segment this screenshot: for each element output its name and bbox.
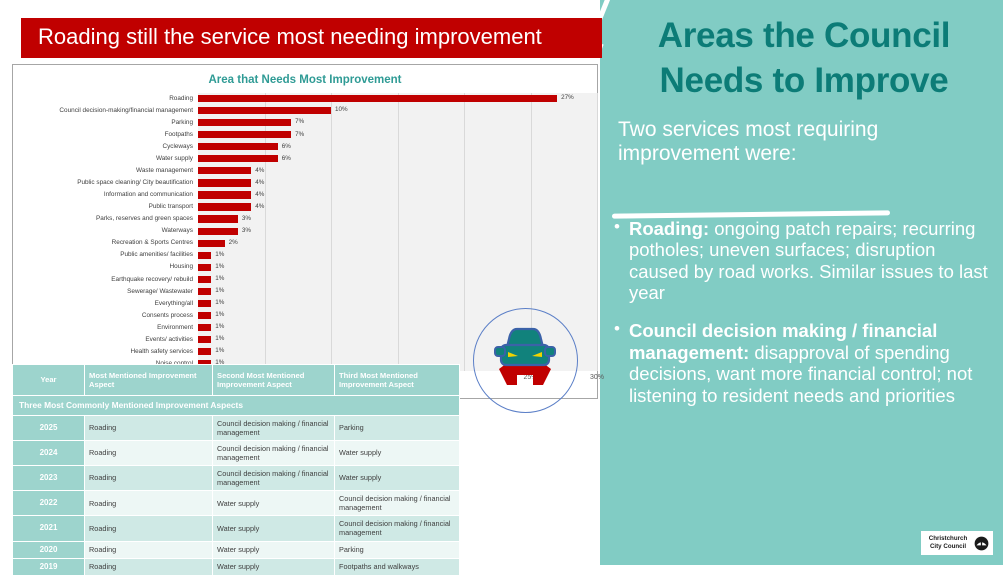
chart-value-label: 1%	[215, 348, 224, 354]
car-icon	[487, 323, 563, 397]
chart-bar-row: Everything/all1%	[13, 298, 597, 310]
chart-bar-row: Cycleways6%	[13, 141, 597, 153]
panel-subtitle: Two services most requiring improvement …	[618, 118, 996, 166]
cell-third-most-mentioned: Parking	[335, 415, 460, 440]
chart-bar-row: Earthquake recovery/ rebuild1%	[13, 274, 597, 286]
chart-value-label: 4%	[255, 192, 264, 198]
cell-second-most-mentioned: Water supply	[213, 541, 335, 558]
chart-category-label: Waste management	[13, 168, 198, 174]
chart-value-label: 4%	[255, 180, 264, 186]
chart-value-label: 27%	[561, 95, 574, 101]
cell-third-most-mentioned: Council decision making / financial mana…	[335, 491, 460, 516]
table-row: 2025RoadingCouncil decision making / fin…	[13, 415, 460, 440]
chart-bar-track: 10%	[198, 105, 597, 117]
list-item: • Council decision making / financial ma…	[614, 320, 998, 405]
column-header-year: Year	[13, 365, 85, 396]
chart-bar-track: 1%	[198, 286, 597, 298]
chart-bar-row: Waste management4%	[13, 165, 597, 177]
cell-year: 2021	[13, 516, 85, 541]
logo-mark-icon	[974, 536, 989, 551]
chart-bar	[198, 336, 211, 343]
table-banner-row: Three Most Commonly Mentioned Improvemen…	[13, 396, 460, 416]
bullet-dot-icon: •	[614, 218, 620, 303]
table-row: 2021RoadingWater supplyCouncil decision …	[13, 516, 460, 541]
chart-value-label: 4%	[255, 204, 264, 210]
chart-bar-track: 3%	[198, 213, 597, 225]
table-row: 2020RoadingWater supplyParking	[13, 541, 460, 558]
chart-bar-row: Waterways3%	[13, 226, 597, 238]
bullet-lead: Roading:	[629, 218, 709, 239]
chart-bar	[198, 348, 211, 355]
chart-bar	[198, 203, 251, 210]
chart-bar-track: 2%	[198, 238, 597, 250]
chart-category-label: Waterways	[13, 228, 198, 234]
chart-value-label: 1%	[215, 336, 224, 342]
chart-bar	[198, 215, 238, 222]
panel-title: Areas the Council Needs to Improve	[618, 14, 990, 104]
logo-line-2: City Council	[925, 543, 971, 551]
table-row: 2024RoadingCouncil decision making / fin…	[13, 440, 460, 465]
chart-bar	[198, 95, 557, 102]
chart-bar-row: Housing1%	[13, 262, 597, 274]
chart-category-label: Consents process	[13, 313, 198, 319]
chart-bar-track: 6%	[198, 141, 597, 153]
chart-bar-row: Council decision-making/financial manage…	[13, 105, 597, 117]
cell-third-most-mentioned: Parking	[335, 541, 460, 558]
chart-value-label: 1%	[215, 264, 224, 270]
chart-value-label: 3%	[242, 216, 251, 222]
list-item: • Roading: ongoing patch repairs; recurr…	[614, 218, 998, 303]
chart-bar-row: Parking7%	[13, 117, 597, 129]
chart-value-label: 1%	[215, 252, 224, 258]
chart-value-label: 7%	[295, 132, 304, 138]
chart-category-label: Sewerage/ Wastewater	[13, 289, 198, 295]
chart-bar-track: 1%	[198, 250, 597, 262]
chart-bar-row: Public transport4%	[13, 201, 597, 213]
cell-year: 2019	[13, 558, 85, 575]
table-banner-text: Three Most Commonly Mentioned Improvemen…	[13, 396, 460, 416]
chart-category-label: Water supply	[13, 156, 198, 162]
chart-bar-row: Public space cleaning/ City beautificati…	[13, 177, 597, 189]
table-header-row: Year Most Mentioned Improvement Aspect S…	[13, 365, 460, 396]
panel-bullet-list: • Roading: ongoing patch repairs; recurr…	[614, 218, 998, 423]
chart-bar	[198, 252, 211, 259]
cell-third-most-mentioned: Footpaths and walkways	[335, 558, 460, 575]
cell-second-most-mentioned: Council decision making / financial mana…	[213, 440, 335, 465]
chart-x-tick-label: 30%	[590, 374, 604, 381]
council-logo: Christchurch City Council	[921, 531, 993, 555]
cell-most-mentioned: Roading	[85, 541, 213, 558]
chart-bar-track: 4%	[198, 189, 597, 201]
chart-value-label: 1%	[215, 300, 224, 306]
chart-bar	[198, 264, 211, 271]
headline-text: Roading still the service most needing i…	[38, 25, 542, 49]
chart-value-label: 7%	[295, 119, 304, 125]
cell-year: 2023	[13, 465, 85, 490]
logo-text: Christchurch City Council	[925, 535, 971, 551]
chart-bar	[198, 324, 211, 331]
headline-banner: Roading still the service most needing i…	[21, 18, 602, 58]
chart-bar-track: 27%	[198, 93, 597, 105]
chart-bar-row: Public amenities/ facilities1%	[13, 250, 597, 262]
summary-table-container: Three Most Commonly Mentioned Improvemen…	[12, 364, 459, 561]
right-summary-panel: Areas the Council Needs to Improve Two s…	[600, 0, 1003, 565]
chart-category-label: Footpaths	[13, 132, 198, 138]
logo-line-1: Christchurch	[925, 535, 971, 543]
chart-category-label: Events/ activities	[13, 337, 198, 343]
chart-value-label: 1%	[215, 324, 224, 330]
chart-gridline	[597, 93, 598, 371]
chart-bar	[198, 143, 278, 150]
chart-category-label: Cycleways	[13, 144, 198, 150]
chart-bar	[198, 276, 211, 283]
chart-bar	[198, 107, 331, 114]
chart-bar	[198, 131, 291, 138]
chart-bar-track: 6%	[198, 153, 597, 165]
chart-bar-track: 1%	[198, 298, 597, 310]
chart-bar	[198, 167, 251, 174]
column-header-most: Most Mentioned Improvement Aspect	[85, 365, 213, 396]
chart-bar-row: Roading27%	[13, 93, 597, 105]
cell-most-mentioned: Roading	[85, 516, 213, 541]
chart-bar	[198, 119, 291, 126]
chart-bar-track: 4%	[198, 201, 597, 213]
chart-bar	[198, 228, 238, 235]
chart-bar-track: 7%	[198, 129, 597, 141]
chart-value-label: 1%	[215, 276, 224, 282]
cell-year: 2025	[13, 415, 85, 440]
chart-category-label: Public space cleaning/ City beautificati…	[13, 180, 198, 186]
slide-canvas: Areas the Council Needs to Improve Two s…	[0, 0, 1003, 565]
chart-title: Area that Needs Most Improvement	[13, 74, 597, 86]
chart-bar-row: Information and communication4%	[13, 189, 597, 201]
bullet-text: Roading: ongoing patch repairs; recurrin…	[629, 218, 998, 303]
chart-bar-row: Recreation & Sports Centres2%	[13, 238, 597, 250]
chart-bar-row: Footpaths7%	[13, 129, 597, 141]
chart-category-label: Roading	[13, 96, 198, 102]
chart-category-label: Council decision-making/financial manage…	[13, 108, 198, 114]
chart-value-label: 1%	[215, 312, 224, 318]
cell-year: 2022	[13, 491, 85, 516]
chart-category-label: Information and communication	[13, 192, 198, 198]
summary-table: Three Most Commonly Mentioned Improvemen…	[12, 364, 460, 576]
cell-third-most-mentioned: Council decision making / financial mana…	[335, 516, 460, 541]
chart-bar-track: 1%	[198, 274, 597, 286]
cell-third-most-mentioned: Water supply	[335, 465, 460, 490]
cell-second-most-mentioned: Council decision making / financial mana…	[213, 465, 335, 490]
chart-bar-row: Sewerage/ Wastewater1%	[13, 286, 597, 298]
chart-bar	[198, 240, 225, 247]
chart-container: Area that Needs Most Improvement Roading…	[12, 64, 598, 399]
chart-bar-track: 3%	[198, 226, 597, 238]
cell-second-most-mentioned: Water supply	[213, 558, 335, 575]
chart-category-label: Parks, reserves and green spaces	[13, 216, 198, 222]
chart-value-label: 1%	[215, 288, 224, 294]
table-body: 2025RoadingCouncil decision making / fin…	[13, 415, 460, 575]
chart-bar	[198, 312, 211, 319]
chart-category-label: Everything/all	[13, 301, 198, 307]
chart-category-label: Environment	[13, 325, 198, 331]
chart-bar-track: 4%	[198, 177, 597, 189]
cell-most-mentioned: Roading	[85, 465, 213, 490]
chart-bar	[198, 155, 278, 162]
bullet-text: Council decision making / financial mana…	[629, 320, 998, 405]
cell-third-most-mentioned: Water supply	[335, 440, 460, 465]
table-row: 2022RoadingWater supplyCouncil decision …	[13, 491, 460, 516]
cell-most-mentioned: Roading	[85, 558, 213, 575]
chart-bar-row: Parks, reserves and green spaces3%	[13, 213, 597, 225]
cell-second-most-mentioned: Water supply	[213, 491, 335, 516]
chart-category-label: Parking	[13, 120, 198, 126]
cell-second-most-mentioned: Water supply	[213, 516, 335, 541]
chart-bar-track: 1%	[198, 262, 597, 274]
column-header-third: Third Most Mentioned Improvement Aspect	[335, 365, 460, 396]
chart-bar	[198, 288, 211, 295]
chart-value-label: 10%	[335, 107, 348, 113]
chart-category-label: Earthquake recovery/ rebuild	[13, 277, 198, 283]
chart-bar-track: 7%	[198, 117, 597, 129]
chart-bar-track: 4%	[198, 165, 597, 177]
chart-bar-row: Water supply6%	[13, 153, 597, 165]
chart-category-label: Public transport	[13, 204, 198, 210]
table-row: 2019RoadingWater supplyFootpaths and wal…	[13, 558, 460, 575]
chart-bar	[198, 300, 211, 307]
chart-bar	[198, 179, 251, 186]
cell-year: 2020	[13, 541, 85, 558]
chart-category-label: Health safety services	[13, 349, 198, 355]
chart-category-label: Recreation & Sports Centres	[13, 240, 198, 246]
chart-value-label: 6%	[282, 144, 291, 150]
cell-most-mentioned: Roading	[85, 415, 213, 440]
cell-most-mentioned: Roading	[85, 440, 213, 465]
bullet-dot-icon: •	[614, 320, 620, 405]
cell-year: 2024	[13, 440, 85, 465]
table-row: 2023RoadingCouncil decision making / fin…	[13, 465, 460, 490]
cell-second-most-mentioned: Council decision making / financial mana…	[213, 415, 335, 440]
chart-bar	[198, 191, 251, 198]
cell-most-mentioned: Roading	[85, 491, 213, 516]
chart-value-label: 4%	[255, 168, 264, 174]
chart-value-label: 2%	[229, 240, 238, 246]
chart-value-label: 6%	[282, 156, 291, 162]
chart-category-label: Public amenities/ facilities	[13, 252, 198, 258]
column-header-second: Second Most Mentioned Improvement Aspect	[213, 365, 335, 396]
chart-value-label: 3%	[242, 228, 251, 234]
chart-category-label: Housing	[13, 264, 198, 270]
